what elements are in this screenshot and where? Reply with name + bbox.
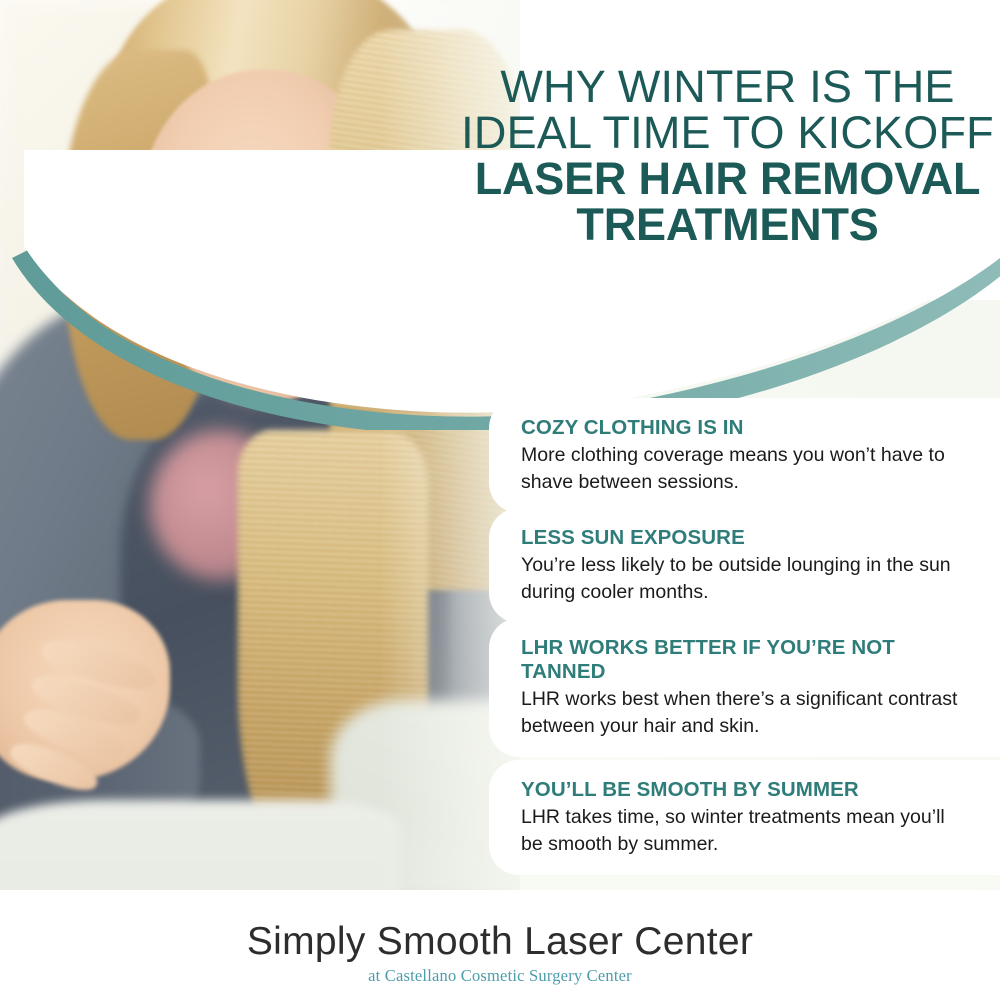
infographic-poster: WHY WINTER IS THE IDEAL TIME TO KICKOFF … — [0, 0, 1000, 1000]
tip-card-body: LHR works best when there’s a significan… — [521, 686, 966, 739]
title-line-4: TREATMENTS — [455, 202, 1000, 248]
tip-card-title: LESS SUN EXPOSURE — [521, 526, 966, 550]
title-line-2: IDEAL TIME TO KICKOFF — [455, 110, 1000, 156]
photo-bottom-fade — [0, 820, 520, 890]
tip-card-body: More clothing coverage means you won’t h… — [521, 442, 966, 495]
footer-logo-band: Simply Smooth Laser Center at Castellano… — [0, 890, 1000, 1000]
tip-card-title: COZY CLOTHING IS IN — [521, 416, 966, 440]
brand-tagline: at Castellano Cosmetic Surgery Center — [0, 966, 1000, 986]
tip-card-body: You’re less likely to be outside loungin… — [521, 552, 966, 605]
tip-card: LHR WORKS BETTER IF YOU’RE NOT TANNED LH… — [489, 618, 1000, 757]
page-title: WHY WINTER IS THE IDEAL TIME TO KICKOFF … — [455, 64, 1000, 248]
title-line-1: WHY WINTER IS THE — [455, 64, 1000, 110]
title-line-3: LASER HAIR REMOVAL — [455, 156, 1000, 202]
tip-card-title: LHR WORKS BETTER IF YOU’RE NOT TANNED — [521, 636, 966, 684]
tip-card: YOU’LL BE SMOOTH BY SUMMER LHR takes tim… — [489, 760, 1000, 875]
hero-photo — [0, 0, 520, 890]
tip-card: COZY CLOTHING IS IN More clothing covera… — [489, 398, 1000, 513]
tip-card-body: LHR takes time, so winter treatments mea… — [521, 804, 966, 857]
tip-card: LESS SUN EXPOSURE You’re less likely to … — [489, 508, 1000, 623]
tip-card-title: YOU’LL BE SMOOTH BY SUMMER — [521, 778, 966, 802]
brand-name: Simply Smooth Laser Center — [0, 920, 1000, 964]
